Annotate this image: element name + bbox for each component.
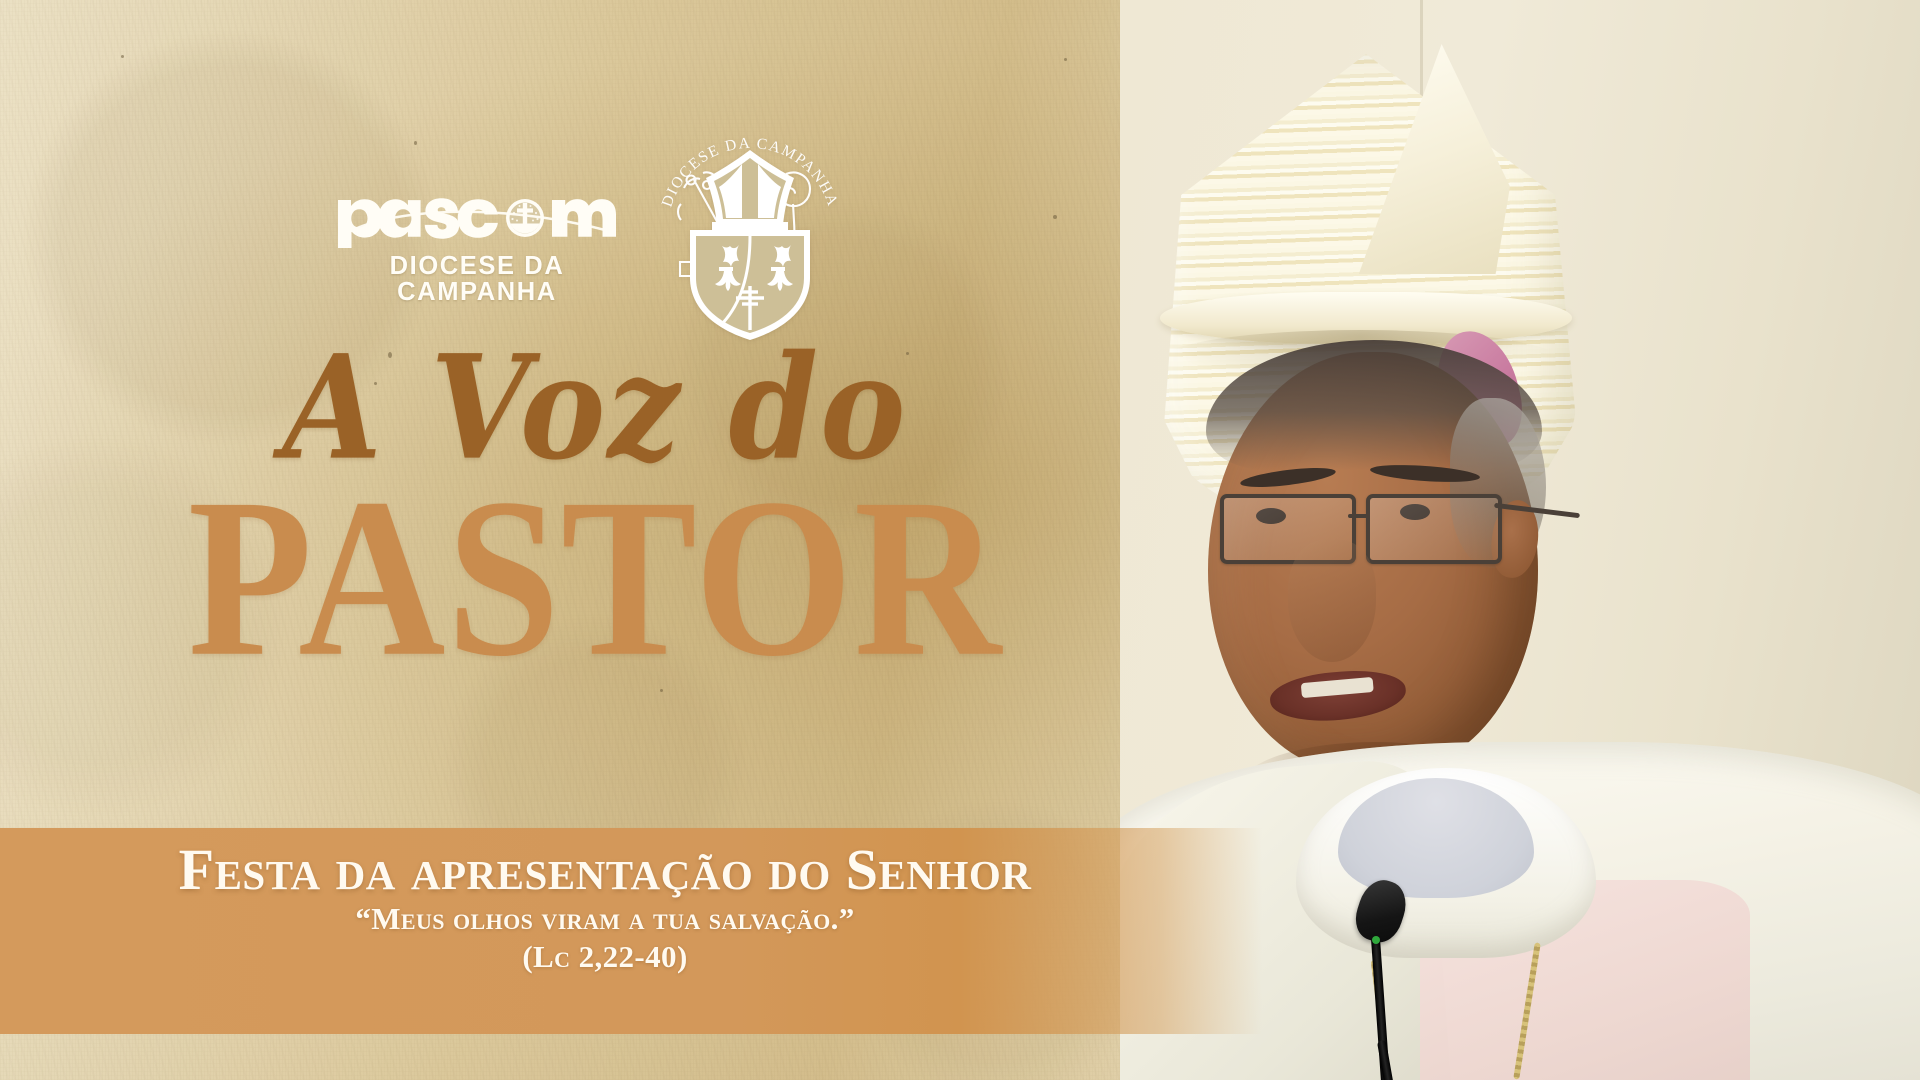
eyeglasses-icon (1216, 486, 1546, 572)
bishop-teeth (1301, 677, 1374, 698)
banner-headline: Festa da apresentação do Senhor (0, 840, 1210, 900)
pascom-logo: DIOCESE DA CAMPANHA (336, 186, 618, 305)
bishop-nose (1288, 540, 1376, 662)
microphone-indicator-light (1372, 936, 1380, 944)
page-title: A Voz do PASTOR (0, 352, 1190, 654)
title-line-serif: PASTOR (0, 474, 1214, 683)
banner-quote: “Meus olhos viram a tua salvação.” (0, 902, 1210, 936)
pascom-wordmark (336, 186, 618, 248)
eyeglass-bridge (1348, 514, 1370, 518)
banner-reference: (Lc 2,22-40) (0, 940, 1210, 974)
eyeglass-lens-right (1366, 494, 1502, 564)
event-banner: Festa da apresentação do Senhor “Meus ol… (0, 828, 1262, 1034)
mitre-icon (706, 150, 794, 242)
pascom-subtitle: DIOCESE DA CAMPANHA (336, 254, 618, 305)
poster-canvas: DIOCESE DA CAMPANHA DIOCESE DA CAMPANHA (0, 0, 1920, 1080)
diocese-coat-of-arms: DIOCESE DA CAMPANHA (650, 118, 850, 340)
